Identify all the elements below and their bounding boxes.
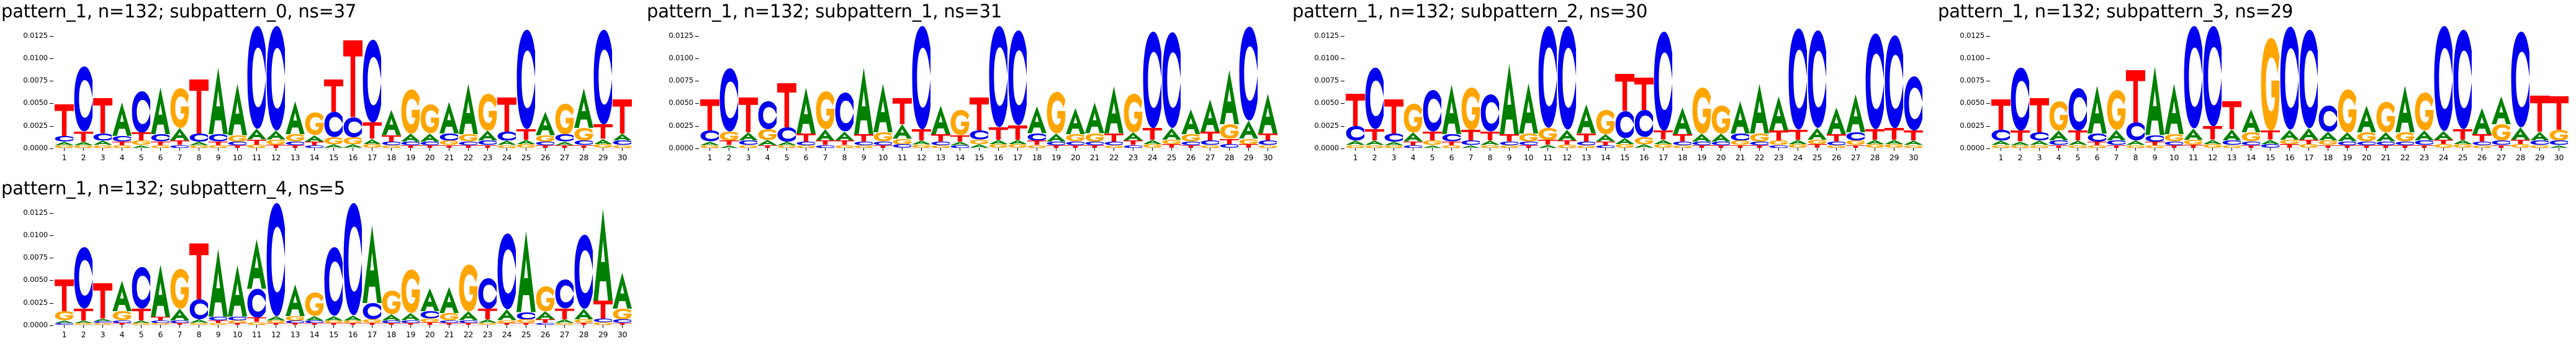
x-axis-tick-mark — [2328, 148, 2328, 151]
logo-letter-G — [266, 140, 286, 145]
x-axis-tick-mark — [1229, 148, 1230, 151]
x-axis-tick: 1 — [55, 148, 74, 169]
x-axis-tick-mark — [2347, 148, 2348, 151]
logo-stack — [228, 203, 247, 325]
y-axis-tick-mark — [1986, 81, 1990, 81]
plot-area: 0.01250.01000.00750.00500.00250.00001234… — [1937, 26, 2576, 172]
x-axis-tick-mark — [2212, 148, 2213, 151]
logo-letter-T — [777, 83, 796, 127]
logo-stack — [1365, 26, 1384, 148]
logo-letter-G — [2395, 132, 2415, 142]
x-axis-tick-label: 16 — [348, 153, 358, 162]
y-axis-tick-mark — [1341, 103, 1344, 104]
logo-letter-T — [555, 309, 574, 319]
logo-letter-G — [2164, 134, 2184, 142]
logo-letter-G — [2549, 130, 2569, 140]
logo-letter-C — [1885, 35, 1904, 129]
logo-letter-A — [228, 84, 247, 135]
logo-stack — [912, 26, 931, 148]
logo-stack — [2203, 26, 2222, 148]
x-axis-tick-mark — [430, 325, 430, 328]
logo-letter-C — [1143, 32, 1162, 128]
logo-stack — [854, 26, 873, 148]
logo-stack — [189, 26, 209, 148]
x-axis-tick-label: 22 — [1109, 153, 1119, 162]
logo-stack — [209, 203, 228, 325]
x-axis-tick: 30 — [613, 148, 632, 169]
x-axis-tick-label: 10 — [878, 153, 888, 162]
logo-letter-A — [1104, 86, 1124, 133]
logo-letter-A — [478, 130, 497, 140]
logo-letter-G — [459, 134, 478, 142]
logo-letter-C — [420, 311, 439, 319]
x-axis-tick-mark — [1721, 148, 1721, 151]
logo-stack — [209, 26, 228, 148]
logo-stack — [1085, 26, 1104, 148]
x-axis-tick-label: 22 — [2400, 153, 2410, 162]
logo-stack — [970, 26, 989, 148]
logo-letter-T — [189, 243, 209, 299]
logo-letter-A — [796, 88, 816, 134]
logo-letter-A — [1692, 134, 1711, 142]
x-axis-tick-mark — [1778, 148, 1779, 151]
logo-stack — [2087, 26, 2107, 148]
x-axis-tick-label: 21 — [2381, 153, 2390, 162]
logo-letter-A — [1596, 134, 1615, 142]
x-axis-tick: 27 — [555, 148, 574, 169]
x-axis-tick: 10 — [1519, 148, 1538, 169]
x-axis-tick-label: 7 — [178, 153, 182, 162]
logo-letter-A — [593, 139, 613, 145]
x-axis-tick-label: 9 — [216, 153, 221, 162]
x-axis-tick-label: 27 — [1205, 153, 1215, 162]
x-axis-tick-label: 16 — [1639, 153, 1649, 162]
logo-letter-G — [574, 128, 593, 140]
logo-letter-C — [266, 26, 286, 130]
x-axis-tick: 11 — [893, 148, 912, 169]
y-axis-tick-label: 0.0050 — [1314, 98, 1344, 107]
logo-letter-A — [305, 135, 324, 142]
logo-letter-T — [2472, 134, 2492, 142]
x-axis-tick-label: 1 — [1353, 153, 1358, 162]
x-axis-tick-mark — [468, 325, 469, 328]
logo-letter-A — [613, 134, 632, 141]
logo-letter-C — [363, 303, 382, 319]
x-axis-tick-mark — [141, 148, 142, 151]
logo-letter-C — [343, 117, 363, 137]
logo-letter-C — [1846, 132, 1865, 140]
logo-stack — [1258, 26, 1277, 148]
x-axis-tick: 30 — [2549, 148, 2569, 169]
x-axis-tick-label: 11 — [252, 330, 261, 339]
logo-stack — [1557, 26, 1577, 148]
logo-letter-T — [816, 140, 835, 145]
x-axis-tick-mark — [1701, 148, 1702, 151]
x-axis-tick: 28 — [1865, 148, 1885, 169]
logo-letter-G — [2338, 89, 2357, 133]
y-axis-tick-mark — [50, 58, 53, 59]
x-axis-tick: 8 — [1480, 148, 1500, 169]
logo-letter-A — [1403, 132, 1423, 142]
logo-letter-A — [2453, 140, 2472, 144]
x-axis-tick-label: 17 — [367, 330, 377, 339]
x-axis-tick: 3 — [93, 148, 112, 169]
logo-letter-C — [247, 26, 266, 129]
logo-letter-T — [1104, 134, 1124, 142]
logo-letter-A — [1346, 140, 1365, 145]
logo-letter-G — [1239, 139, 1258, 145]
x-axis-tick-mark — [545, 325, 546, 328]
x-axis-tick-mark — [276, 325, 276, 328]
logo-stack — [1346, 26, 1365, 148]
x-axis-tick-mark — [729, 148, 729, 151]
logo-stack — [74, 203, 93, 325]
x-axis-tick-label: 23 — [483, 330, 492, 339]
x-axis-tick: 19 — [1692, 148, 1711, 169]
logo-letter-G — [1711, 106, 1731, 134]
x-axis-tick: 29 — [1239, 148, 1258, 169]
logo-letter-C — [93, 134, 112, 141]
logo-letter-C — [1480, 94, 1500, 132]
x-axis-tick-mark — [237, 325, 238, 328]
x-axis-tick-label: 22 — [464, 330, 473, 339]
logo-stack — [343, 26, 363, 148]
x-axis-tick-label: 14 — [1601, 153, 1610, 162]
x-axis-tick-mark — [449, 148, 449, 151]
x-axis-tick-mark — [256, 148, 257, 151]
x-axis-tick-mark — [1114, 148, 1114, 151]
x-axis-tick: 16 — [343, 325, 363, 346]
logo-letter-T — [2511, 140, 2530, 144]
x-axis-tick: 4 — [112, 325, 132, 346]
x-axis-tick: 13 — [1577, 148, 1596, 169]
x-axis-tick: 26 — [2472, 148, 2492, 169]
x-axis-tick-mark — [372, 325, 372, 328]
logo-letter-C — [478, 140, 497, 145]
y-axis-tick-label: 0.0075 — [23, 253, 53, 261]
logo-letter-G — [132, 140, 151, 145]
logo-letter-C — [777, 127, 796, 142]
x-axis-tick-label: 18 — [1032, 153, 1042, 162]
x-axis-tick-label: 13 — [290, 330, 300, 339]
logo-letter-C — [2434, 26, 2453, 131]
x-axis-tick-mark — [141, 325, 142, 328]
logo-stack — [497, 26, 516, 148]
y-axis-tick-label: 0.0075 — [669, 76, 699, 84]
logo-letter-G — [2049, 101, 2068, 131]
logo-letter-C — [989, 26, 1008, 127]
logo-stack — [1731, 26, 1750, 148]
x-axis-tick: 16 — [1634, 148, 1654, 169]
logo-letter-A — [2376, 132, 2395, 142]
logo-stack — [1239, 26, 1258, 148]
x-axis-tick: 25 — [516, 148, 536, 169]
x-axis-tick: 29 — [2530, 148, 2549, 169]
logo-letter-C — [2049, 140, 2068, 145]
logo-stack — [1500, 26, 1519, 148]
logo-stack — [2299, 26, 2318, 148]
x-axis-tick-label: 1 — [62, 330, 67, 339]
x-axis-tick-label: 30 — [1263, 153, 1272, 162]
logo-letter-G — [170, 88, 189, 128]
x-axis-tick-mark — [806, 148, 806, 151]
x-axis-tick-label: 25 — [2458, 153, 2467, 162]
logo-letter-A — [2415, 130, 2434, 140]
logo-stack — [1865, 26, 1885, 148]
logo-stack — [363, 203, 382, 325]
x-axis-tick: 15 — [1615, 148, 1634, 169]
logo-stack — [516, 26, 536, 148]
logo-stacks — [1991, 26, 2569, 148]
logo-letter-T — [189, 79, 209, 134]
y-axis-tick-label: 0.0000 — [1314, 143, 1344, 152]
logo-letter-A — [112, 102, 132, 136]
x-axis-tick-label: 5 — [2076, 153, 2081, 162]
x-axis-tick: 25 — [516, 325, 536, 346]
logo-letter-T — [1885, 128, 1904, 140]
x-axis-tick: 5 — [2068, 148, 2087, 169]
x-axis-tick-mark — [1374, 148, 1375, 151]
x-axis-tick-mark — [883, 148, 883, 151]
x-axis-tick-mark — [410, 148, 411, 151]
x-axis-tick-mark — [526, 325, 526, 328]
x-axis-tick-mark — [487, 148, 488, 151]
x-axis-tick: 14 — [305, 325, 324, 346]
y-axis-tick-mark — [1341, 58, 1344, 59]
logo-letter-A — [2395, 86, 2415, 132]
logo-letter-G — [873, 132, 893, 142]
logo-letter-G — [758, 129, 777, 140]
x-axis-tick: 18 — [382, 325, 401, 346]
logo-letter-T — [1423, 132, 1442, 141]
logo-letter-A — [1239, 120, 1258, 138]
logo-letter-A — [2530, 132, 2549, 141]
x-axis-tick-mark — [83, 148, 84, 151]
logo-letter-C — [189, 299, 209, 319]
logo-stack — [893, 26, 912, 148]
x-axis-tick-label: 28 — [1870, 153, 1880, 162]
x-axis-tick-mark — [2559, 148, 2559, 151]
logo-letter-T — [363, 122, 382, 138]
x-axis-tick-label: 5 — [1430, 153, 1435, 162]
y-axis: 0.01250.01000.00750.00500.00250.0000 — [1291, 26, 1344, 148]
logo-letter-A — [1442, 84, 1461, 134]
logo-letter-G — [1538, 128, 1557, 140]
logo-letter-A — [2261, 140, 2280, 144]
logo-letter-C — [555, 134, 574, 142]
y-axis-tick-label: 0.0100 — [1314, 53, 1344, 62]
logo-letter-A — [989, 140, 1008, 144]
x-axis-tick-mark — [2039, 148, 2040, 151]
logo-letter-A — [2107, 130, 2126, 140]
logo-letter-T — [170, 140, 189, 145]
logo-letter-A — [1047, 134, 1066, 142]
logo-letter-A — [151, 88, 170, 134]
logo-letter-A — [2184, 129, 2203, 140]
x-axis-tick-mark — [256, 325, 257, 328]
logo-stack — [2164, 26, 2184, 148]
logo-letter-C — [516, 30, 536, 129]
x-axis-tick-mark — [1094, 148, 1095, 151]
logo-stack — [93, 26, 112, 148]
logo-letter-A — [2145, 66, 2164, 135]
x-axis-tick-mark — [218, 325, 218, 328]
logo-letter-A — [420, 134, 439, 142]
x-axis-tick: 17 — [363, 325, 382, 346]
logo-stack — [2280, 26, 2299, 148]
y-axis-tick-label: 0.0075 — [23, 76, 53, 84]
x-axis-tick: 22 — [2395, 148, 2415, 169]
x-axis-tick: 24 — [1143, 148, 1162, 169]
logo-stack — [2492, 26, 2511, 148]
x-axis-tick-mark — [1451, 148, 1452, 151]
logo-letter-T — [1557, 140, 1577, 145]
logo-letter-A — [1577, 104, 1596, 133]
logo-letter-G — [2415, 93, 2434, 130]
logo-letter-G — [305, 112, 324, 135]
x-axis-tick-mark — [507, 325, 507, 328]
logo-letter-A — [1557, 130, 1577, 140]
x-axis-tick-mark — [583, 148, 584, 151]
x-axis-tick-mark — [1759, 148, 1760, 151]
logo-stack — [170, 203, 189, 325]
x-axis-tick-label: 12 — [917, 153, 926, 162]
x-axis-tick-mark — [2001, 148, 2001, 151]
x-axis-tick-label: 19 — [1052, 153, 1061, 162]
logo-letter-A — [1731, 101, 1750, 134]
x-axis-tick-label: 6 — [804, 153, 809, 162]
y-axis-tick-mark — [1986, 148, 1990, 149]
x-axis-tick: 15 — [2261, 148, 2280, 169]
x-axis-tick-label: 20 — [1716, 153, 1726, 162]
x-axis-tick-label: 13 — [2227, 153, 2236, 162]
logo-panel-subpattern_0: pattern_1, n=132; subpattern_0, ns=370.0… — [0, 0, 646, 177]
x-axis-tick-label: 23 — [483, 153, 492, 162]
logo-letter-C — [2222, 140, 2241, 145]
logo-letter-A — [247, 129, 266, 139]
x-axis-tick-mark — [979, 148, 980, 151]
logo-stack — [1162, 26, 1181, 148]
logo-letter-G — [1731, 140, 1750, 145]
x-axis-tick-mark — [825, 148, 826, 151]
x-axis-tick: 27 — [1846, 148, 1865, 169]
x-axis-tick: 2 — [719, 148, 739, 169]
x-axis-tick: 28 — [2511, 148, 2530, 169]
logo-stack — [1711, 26, 1731, 148]
logo-letter-T — [593, 301, 613, 319]
logo-stack — [55, 203, 74, 325]
logo-stack — [2376, 26, 2395, 148]
logo-stack — [613, 26, 632, 148]
x-axis-tick: 17 — [1008, 148, 1027, 169]
x-axis-tick: 23 — [478, 148, 497, 169]
logo-letter-C — [1654, 32, 1673, 131]
x-axis-tick-label: 28 — [1225, 153, 1234, 162]
logo-letter-G — [2280, 140, 2299, 144]
x-axis-tick-label: 13 — [290, 153, 300, 162]
plot-area: 0.01250.01000.00750.00500.00250.00001234… — [1291, 26, 1937, 172]
logo-letter-C — [324, 247, 343, 315]
logo-letter-C — [151, 134, 170, 142]
logo-letter-C — [1808, 30, 1827, 128]
y-axis-tick-label: 0.0050 — [23, 98, 53, 107]
y-axis-tick-label: 0.0125 — [1960, 31, 1990, 40]
x-axis-tick-label: 25 — [1167, 153, 1176, 162]
logo-letter-T — [247, 317, 266, 322]
x-axis-tick-label: 30 — [618, 330, 627, 339]
x-axis-tick-mark — [276, 148, 276, 151]
logo-stack — [1008, 26, 1027, 148]
x-axis-tick: 25 — [2453, 148, 2472, 169]
logo-letter-G — [439, 313, 459, 320]
logo-letter-C — [343, 203, 363, 315]
x-axis-tick-mark — [218, 148, 218, 151]
x-axis-tick: 30 — [613, 325, 632, 346]
logo-stack — [1220, 26, 1239, 148]
x-axis-tick-label: 9 — [862, 153, 867, 162]
x-axis-tick-mark — [786, 148, 787, 151]
x-axis-tick-label: 25 — [521, 330, 531, 339]
logo-letter-T — [1634, 78, 1654, 110]
x-axis-tick: 18 — [1673, 148, 1692, 169]
x-axis-tick-mark — [2135, 148, 2136, 151]
logo-letter-T — [1991, 99, 2011, 130]
logo-letter-C — [1258, 140, 1277, 145]
x-axis-tick-mark — [372, 148, 372, 151]
y-axis-tick-label: 0.0025 — [23, 121, 53, 130]
y-axis-tick-mark — [695, 103, 699, 104]
x-axis-tick: 19 — [401, 148, 420, 169]
x-axis-tick: 13 — [286, 325, 305, 346]
x-axis: 1234567891011121314151617181920212223242… — [55, 325, 632, 346]
x-axis-tick-label: 19 — [1697, 153, 1706, 162]
logo-stack — [2472, 26, 2492, 148]
logo-stack — [1615, 26, 1634, 148]
logo-letter-C — [2087, 134, 2107, 142]
logo-stack — [286, 26, 305, 148]
x-axis-tick-label: 11 — [898, 153, 907, 162]
x-axis-tick-label: 11 — [2189, 153, 2198, 162]
x-axis-tick-mark — [468, 148, 469, 151]
logo-letter-A — [2222, 129, 2241, 141]
logo-letter-C — [2126, 122, 2145, 140]
logo-letter-T — [2299, 140, 2318, 144]
x-axis: 1234567891011121314151617181920212223242… — [700, 148, 1277, 169]
logo-letter-C — [2145, 135, 2164, 142]
x-axis-tick-label: 7 — [823, 153, 828, 162]
logo-letter-T — [593, 124, 613, 138]
x-axis-tick: 30 — [1904, 148, 1923, 169]
logo-letter-C — [2203, 26, 2222, 126]
x-axis-tick-mark — [1798, 148, 1798, 151]
x-axis-tick: 18 — [2318, 148, 2338, 169]
logo-letter-T — [2222, 101, 2241, 129]
logo-stack — [305, 203, 324, 325]
x-axis-tick-label: 19 — [406, 153, 415, 162]
x-axis-tick-label: 20 — [425, 153, 435, 162]
y-axis-tick-mark — [695, 36, 699, 37]
x-axis-tick-label: 30 — [1909, 153, 1918, 162]
logo-letter-A — [305, 316, 324, 320]
logo-stack — [2126, 26, 2145, 148]
logo-letter-G — [2376, 102, 2395, 132]
logo-letter-A — [613, 273, 632, 309]
y-axis-tick-mark — [50, 126, 53, 127]
logo-letter-T — [700, 99, 719, 131]
x-axis-tick-label: 16 — [2285, 153, 2294, 162]
logo-letter-T — [1827, 134, 1846, 142]
x-axis-tick-label: 2 — [1372, 153, 1377, 162]
